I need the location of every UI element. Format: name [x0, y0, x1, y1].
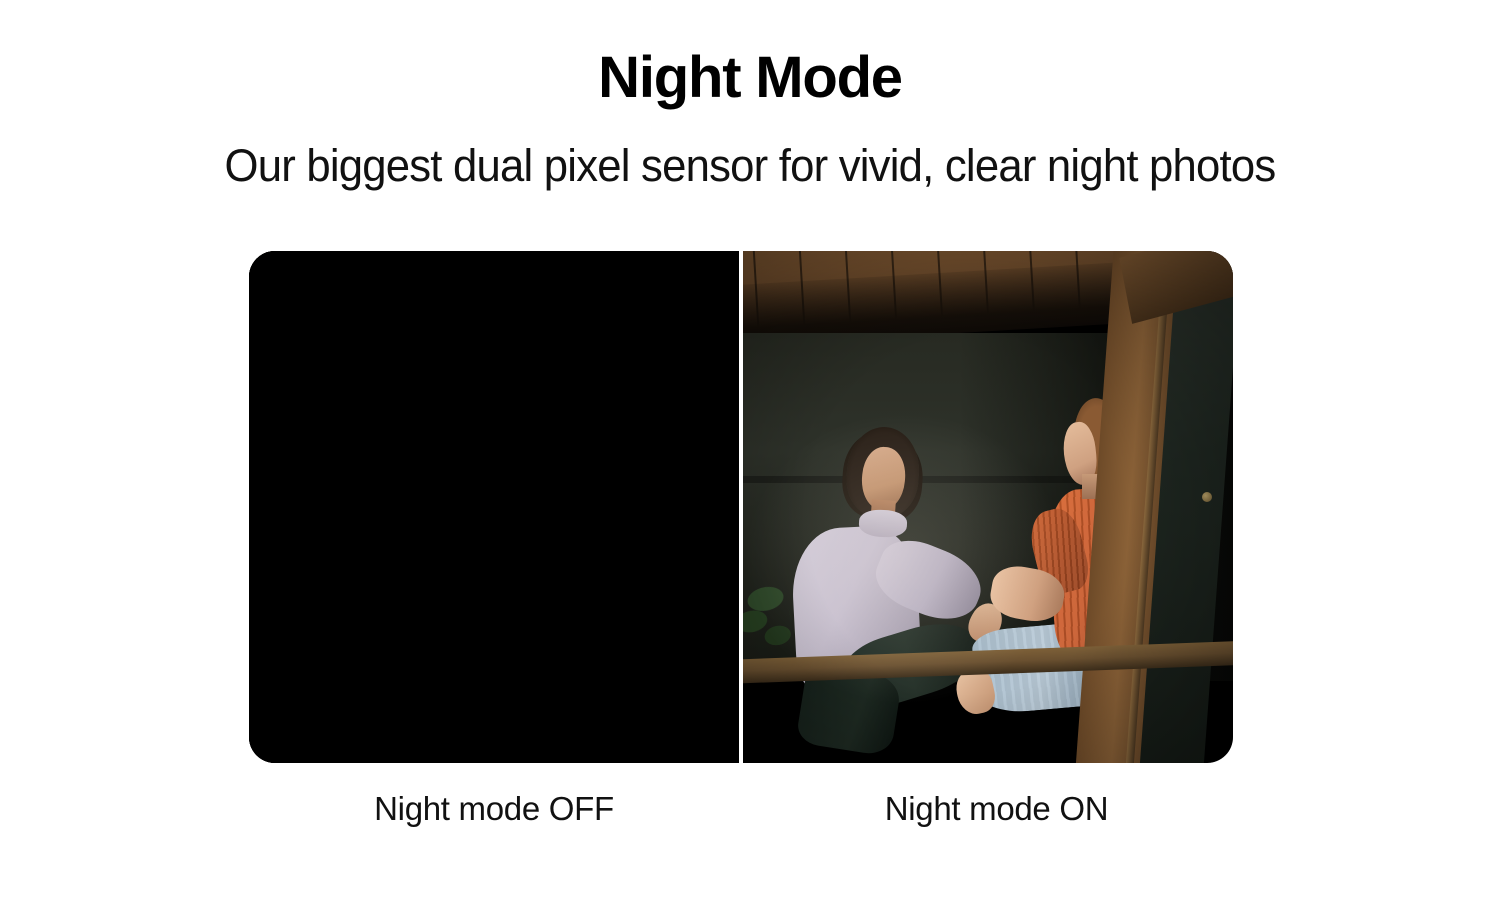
page-subtitle: Our biggest dual pixel sensor for vivid,…	[23, 140, 1478, 192]
scene-dark	[249, 251, 739, 763]
photo-night-mode-on[interactable]	[743, 251, 1233, 763]
turtleneck-collar	[364, 509, 413, 538]
turtleneck-collar	[858, 509, 907, 538]
night-mode-promo-page: Night Mode Our biggest dual pixel sensor…	[0, 0, 1500, 900]
scene-bright	[743, 251, 1233, 763]
caption-night-mode-off: Night mode OFF	[249, 790, 739, 828]
image-comparison	[249, 251, 1250, 763]
caption-night-mode-on: Night mode ON	[743, 790, 1250, 828]
deck-planks	[249, 646, 739, 763]
photo-night-mode-off[interactable]	[249, 251, 739, 763]
page-title: Night Mode	[0, 48, 1500, 109]
deck-planks	[743, 646, 1233, 763]
